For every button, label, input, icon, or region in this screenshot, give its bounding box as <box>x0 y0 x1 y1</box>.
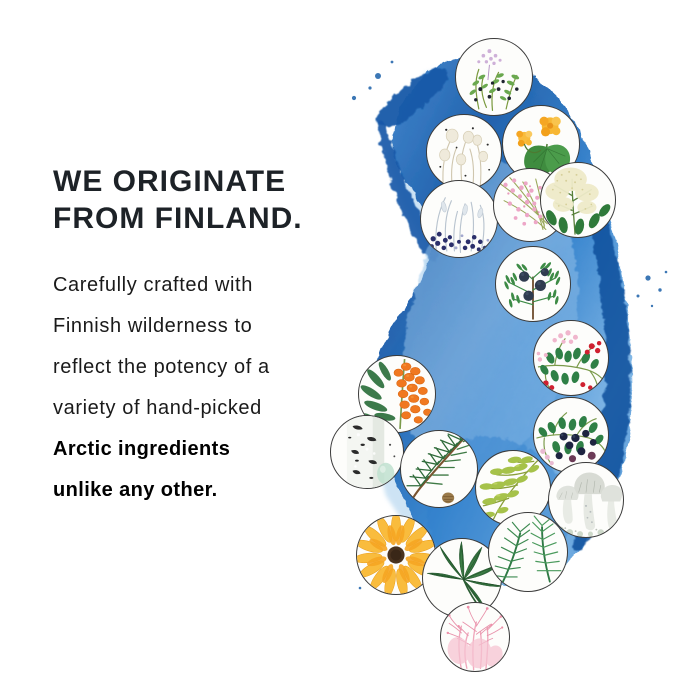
lingonberry-icon <box>534 321 608 395</box>
body-copy: Carefully crafted with Finnish wildernes… <box>53 237 353 511</box>
cloudberry-blossom-large <box>539 117 560 137</box>
body-line-2: Finnish wilderness to <box>53 306 353 347</box>
copy-block: WE ORIGINATE FROM FINLAND. Carefully cra… <box>53 163 353 511</box>
wild-mushrooms-icon <box>549 463 623 537</box>
inset-crowberry-heather[interactable] <box>455 38 533 116</box>
inset-cloudberry-buds[interactable] <box>426 114 502 190</box>
headline-line-2: FROM FINLAND. <box>53 200 353 237</box>
crowberry-heather-icon <box>456 39 532 115</box>
body-line-1: Carefully crafted with <box>53 265 353 306</box>
inset-meadowsweet[interactable] <box>540 162 616 238</box>
page-title: WE ORIGINATE FROM FINLAND. <box>53 163 353 237</box>
body-line-6: unlike any other. <box>53 470 353 511</box>
cloudberry-buds-icon <box>427 115 501 189</box>
poster-canvas: WE ORIGINATE FROM FINLAND. Carefully cra… <box>0 0 679 679</box>
mushroom-left <box>556 486 578 524</box>
meadowsweet-icon <box>541 163 615 237</box>
inset-birch-sap[interactable] <box>330 415 404 489</box>
birch-bark-icon <box>331 416 403 488</box>
inset-lingonberry[interactable] <box>533 320 609 396</box>
mushroom-center <box>574 473 605 531</box>
inset-spruce-needles[interactable] <box>488 512 568 592</box>
wild-blueberry-icon <box>421 181 497 257</box>
spruce-needles-icon <box>489 513 567 591</box>
body-line-4: variety of hand-picked <box>53 388 353 429</box>
inset-bilberry-dark[interactable] <box>533 397 609 473</box>
inset-bilberry-blueberry[interactable] <box>420 180 498 258</box>
spruce-sprig-left <box>494 522 530 584</box>
spruce-sprig-right <box>531 516 561 582</box>
inset-juniper[interactable] <box>495 246 571 322</box>
body-line-3: reflect the potency of a <box>53 347 353 388</box>
finland-map-illustration <box>330 10 679 679</box>
arctic-algae-icon <box>441 603 509 671</box>
pine-cone <box>442 493 454 504</box>
body-line-5: Arctic ingredients <box>53 429 353 470</box>
pine-branch-icon <box>401 431 477 507</box>
inset-pink-algae[interactable] <box>440 602 510 672</box>
bilberry-icon <box>534 398 608 472</box>
juniper-berries-icon <box>496 247 570 321</box>
headline-line-1: WE ORIGINATE <box>53 163 353 200</box>
inset-pine-branch[interactable] <box>400 430 478 508</box>
